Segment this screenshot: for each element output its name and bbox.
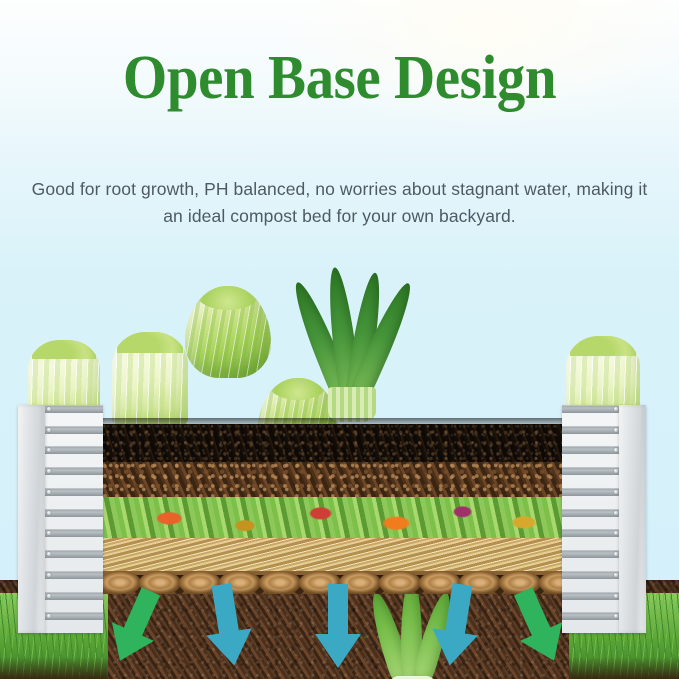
bed-panel-right-slats [562, 405, 622, 633]
bed-panel-rivet [614, 614, 618, 618]
bed-panel-rivet [47, 594, 51, 598]
bed-panel-rivet [47, 448, 51, 452]
layer-kitchen-scraps [103, 497, 576, 538]
arrow-drainage-down-3 [428, 582, 484, 670]
bed-corner-post-right [619, 405, 646, 633]
page-subtitle: Good for root growth, PH balanced, no wo… [30, 176, 650, 230]
product-feature-image: Open Base Design Good for root growth, P… [0, 0, 679, 679]
bed-panel-slat [562, 509, 622, 517]
bed-panel-rivet [614, 594, 618, 598]
bed-panel-rivet [614, 511, 618, 515]
log-end [379, 571, 421, 594]
bed-panel-rivet [614, 531, 618, 535]
bed-panel-slat [562, 571, 622, 579]
layer-straw [103, 538, 576, 571]
bed-panel-slat [43, 529, 103, 537]
bed-panel-rivet [47, 573, 51, 577]
bed-panel-rivet [47, 469, 51, 473]
bed-panel-slat [562, 612, 622, 620]
layer-topsoil [103, 424, 576, 462]
bed-panel-rivet [614, 573, 618, 577]
bed-panel-left [18, 405, 103, 633]
arrow-drainage-down-1 [200, 582, 256, 670]
bed-panel-rivet [614, 448, 618, 452]
page-title: Open Base Design [27, 47, 652, 109]
bed-panel-slat [43, 488, 103, 496]
bed-panel-rivet [614, 428, 618, 432]
bed-panel-slat [562, 426, 622, 434]
bed-panel-rivet [47, 428, 51, 432]
bed-panel-rivet [47, 552, 51, 556]
bed-panel-slat [43, 405, 103, 413]
bed-panel-slat [562, 529, 622, 537]
bed-panel-slat [43, 509, 103, 517]
bed-cross-section [103, 424, 576, 594]
plant-green-cabbage [185, 286, 271, 378]
bed-panel-rivet [47, 490, 51, 494]
log-end [259, 571, 301, 594]
bed-panel-rivet [614, 469, 618, 473]
bed-panel-right [562, 405, 646, 633]
bed-panel-rivet [614, 407, 618, 411]
bed-panel-rivet [614, 552, 618, 556]
bed-panel-slat [43, 592, 103, 600]
bed-panel-slat [562, 592, 622, 600]
bed-panel-slat [43, 550, 103, 558]
arrow-roots-up-left [104, 586, 166, 668]
arrow-drainage-down-2 [310, 582, 366, 672]
bed-panel-rivet [47, 531, 51, 535]
bed-panel-rivet [47, 511, 51, 515]
bed-panel-slat [43, 426, 103, 434]
layer-compost [103, 462, 576, 497]
bed-panel-slat [562, 488, 622, 496]
bed-panel-slat [43, 612, 103, 620]
arrow-roots-up-right [508, 586, 570, 668]
bed-panel-slat [43, 467, 103, 475]
plant-napa-cabbage [112, 332, 188, 428]
bed-panel-slat [43, 571, 103, 579]
bed-panel-slat [562, 405, 622, 413]
bed-panel-rivet [47, 614, 51, 618]
bed-panel-slat [562, 550, 622, 558]
bed-panel-slat [43, 446, 103, 454]
bed-panel-slat [562, 467, 622, 475]
bed-panel-left-slats [43, 405, 103, 633]
bed-panel-rivet [47, 407, 51, 411]
bed-panel-slat [562, 446, 622, 454]
bed-panel-rivet [614, 490, 618, 494]
bed-corner-post-left [18, 405, 45, 633]
